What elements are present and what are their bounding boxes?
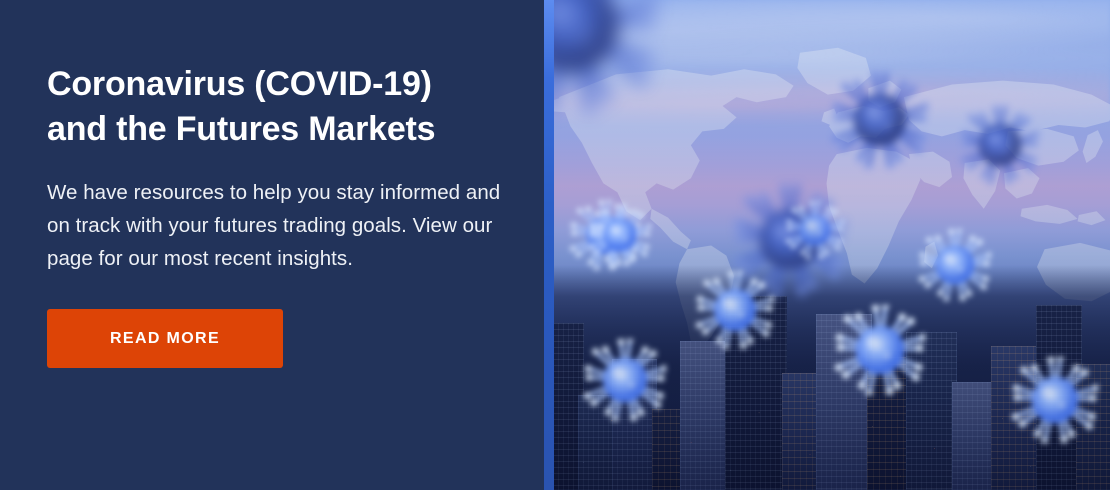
covid-futures-hero-banner: Coronavirus (COVID-19) and the Futures M… (0, 0, 1110, 490)
hero-text-panel: Coronavirus (COVID-19) and the Futures M… (0, 0, 544, 490)
page-title: Coronavirus (COVID-19) and the Futures M… (47, 62, 504, 152)
city-lights (544, 391, 1110, 490)
panel-divider-stripe (544, 0, 554, 490)
hero-description: We have resources to help you stay infor… (47, 176, 504, 275)
city-skyline (544, 265, 1110, 490)
hero-image-panel: Dusk cityscape of a dense high-rise skyl… (544, 0, 1110, 490)
read-more-button[interactable]: READ MORE (47, 309, 283, 368)
headline-line-1: Coronavirus (COVID-19) (47, 62, 504, 107)
headline-line-2: and the Futures Markets (47, 107, 504, 152)
cta-container: READ MORE (47, 309, 504, 368)
